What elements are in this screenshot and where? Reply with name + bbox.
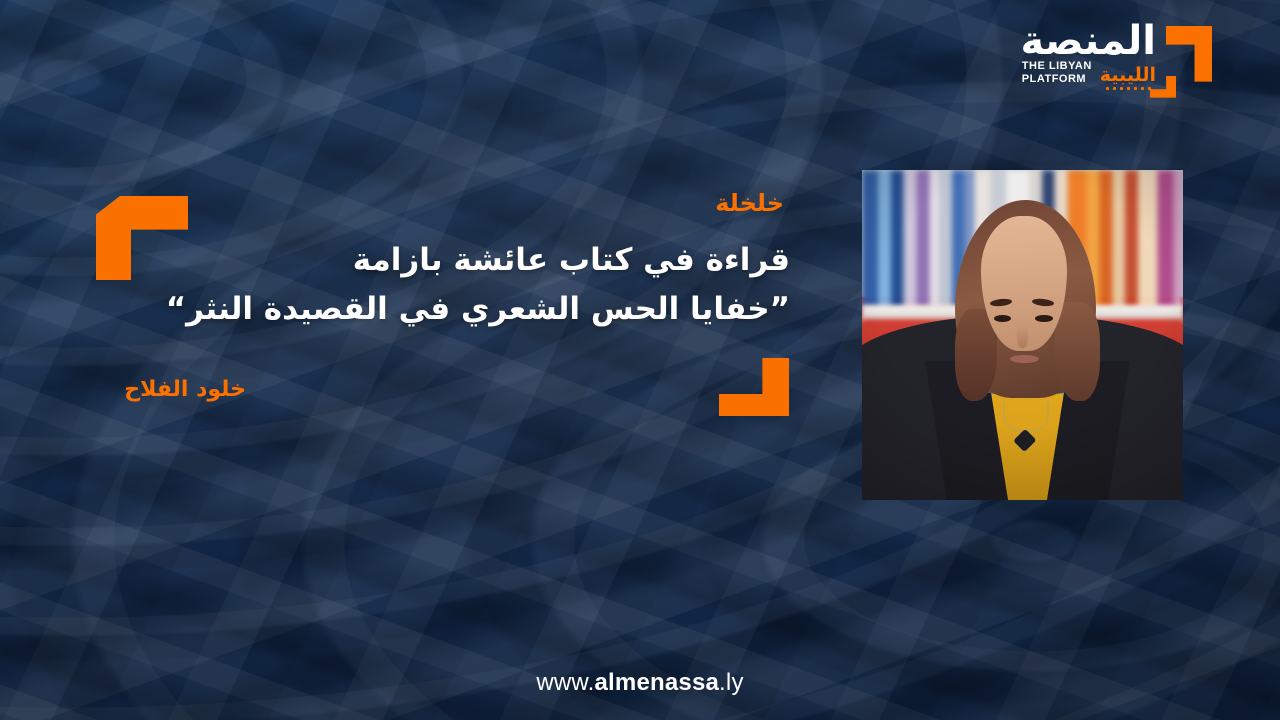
- logo-secondary-row: الليبية THE LIBYAN PLATFORM: [1022, 60, 1156, 85]
- logo-english-line-1: THE LIBYAN: [1022, 60, 1092, 73]
- logo-arabic-subtitle: الليبية: [1100, 66, 1156, 85]
- website-url[interactable]: www.almenassa.ly: [0, 669, 1280, 697]
- logo-english-line-2: PLATFORM: [1022, 73, 1092, 86]
- author-name[interactable]: خلود الفلاح: [124, 379, 246, 401]
- photo-shading-overlay: [862, 170, 1183, 500]
- logo-english-subtitle: THE LIBYAN PLATFORM: [1022, 60, 1092, 85]
- headline-line-2: ”خفايا الحس الشعري في القصيدة النثر“: [170, 285, 790, 334]
- website-url-name: almenassa: [594, 669, 719, 696]
- logo-wordmark: المنصة الليبية THE LIBYAN PLATFORM: [1020, 22, 1156, 85]
- category-label[interactable]: خلخلة: [715, 191, 784, 215]
- headline: قراءة في كتاب عائشة بازامة ”خفايا الحس ا…: [170, 236, 790, 334]
- headline-line-1: قراءة في كتاب عائشة بازامة: [170, 236, 790, 285]
- website-url-prefix: www.: [536, 669, 594, 696]
- promo-card: المنصة الليبية THE LIBYAN PLATFORM: [0, 0, 1280, 720]
- logo-hook-icon: [1166, 26, 1212, 82]
- logo-arabic-title: المنصة: [1020, 22, 1156, 60]
- logo-hook-shape: [1166, 26, 1212, 82]
- website-url-suffix: .ly: [719, 669, 744, 696]
- brand-logo[interactable]: المنصة الليبية THE LIBYAN PLATFORM: [1020, 22, 1212, 85]
- author-photo: [862, 170, 1183, 500]
